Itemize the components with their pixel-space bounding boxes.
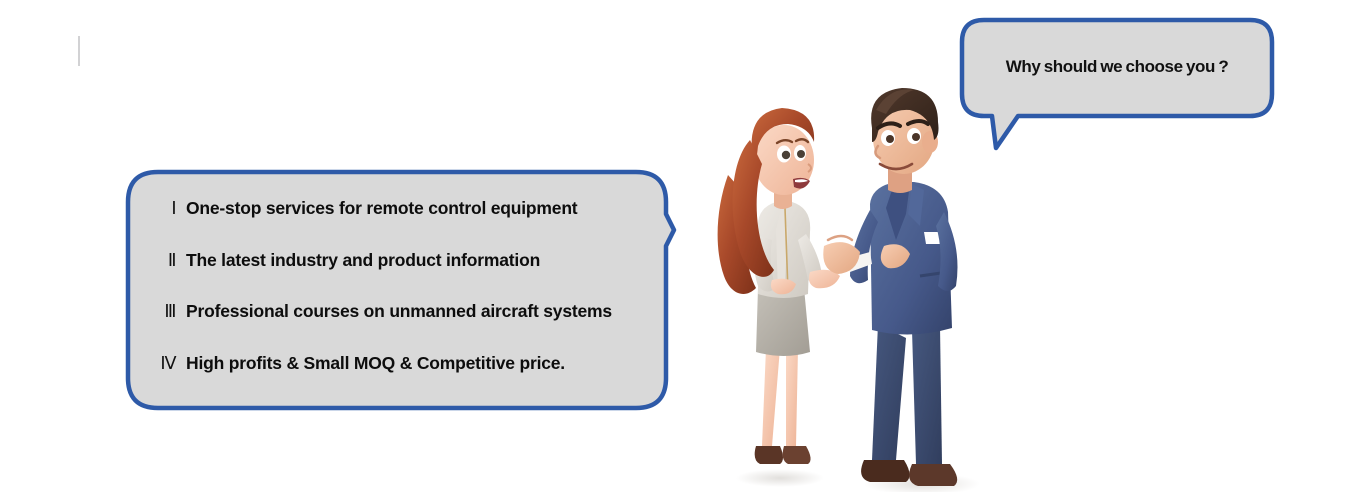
businesswoman-figure (718, 108, 840, 464)
businessman-figure (823, 88, 957, 486)
question-label: Why should we choose you ? (1006, 57, 1229, 77)
list-item-numeral: Ⅲ (142, 301, 176, 322)
woman-shoe-left (755, 446, 783, 464)
man-shoe-left (861, 460, 909, 482)
woman-pupil-right (797, 150, 805, 158)
list-item-label: One-stop services for remote control equ… (186, 198, 577, 219)
list-item-numeral: Ⅳ (142, 353, 176, 374)
list-item-label: High profits & Small MOQ & Competitive p… (186, 353, 565, 374)
woman-pupil-left (782, 151, 790, 159)
man-trouser-left (872, 324, 906, 460)
woman-floor-shadow (736, 469, 824, 487)
list-item-numeral: Ⅱ (142, 250, 176, 271)
woman-shoe-right (783, 446, 811, 464)
list-item-label: The latest industry and product informat… (186, 250, 540, 271)
answer-list: Ⅰ One-stop services for remote control e… (128, 172, 666, 400)
man-shoe-right (909, 464, 957, 486)
text-caret-artifact (78, 36, 80, 66)
list-item: Ⅰ One-stop services for remote control e… (142, 198, 648, 219)
list-item: Ⅱ The latest industry and product inform… (142, 250, 648, 271)
man-trouser-right (912, 326, 942, 464)
man-thumb (828, 236, 852, 240)
list-item-label: Professional courses on unmanned aircraf… (186, 301, 612, 322)
slide-canvas: Ⅰ One-stop services for remote control e… (0, 0, 1354, 499)
woman-leg-left (762, 348, 780, 446)
woman-leg-right (786, 348, 798, 446)
list-item: Ⅳ High profits & Small MOQ & Competitive… (142, 353, 648, 374)
man-pupil-left (886, 135, 894, 143)
list-item-numeral: Ⅰ (142, 198, 176, 219)
woman-skirt (756, 288, 810, 356)
list-item: Ⅲ Professional courses on unmanned aircr… (142, 301, 648, 322)
two-business-people-talking (700, 80, 1010, 492)
man-pupil-right (912, 133, 920, 141)
